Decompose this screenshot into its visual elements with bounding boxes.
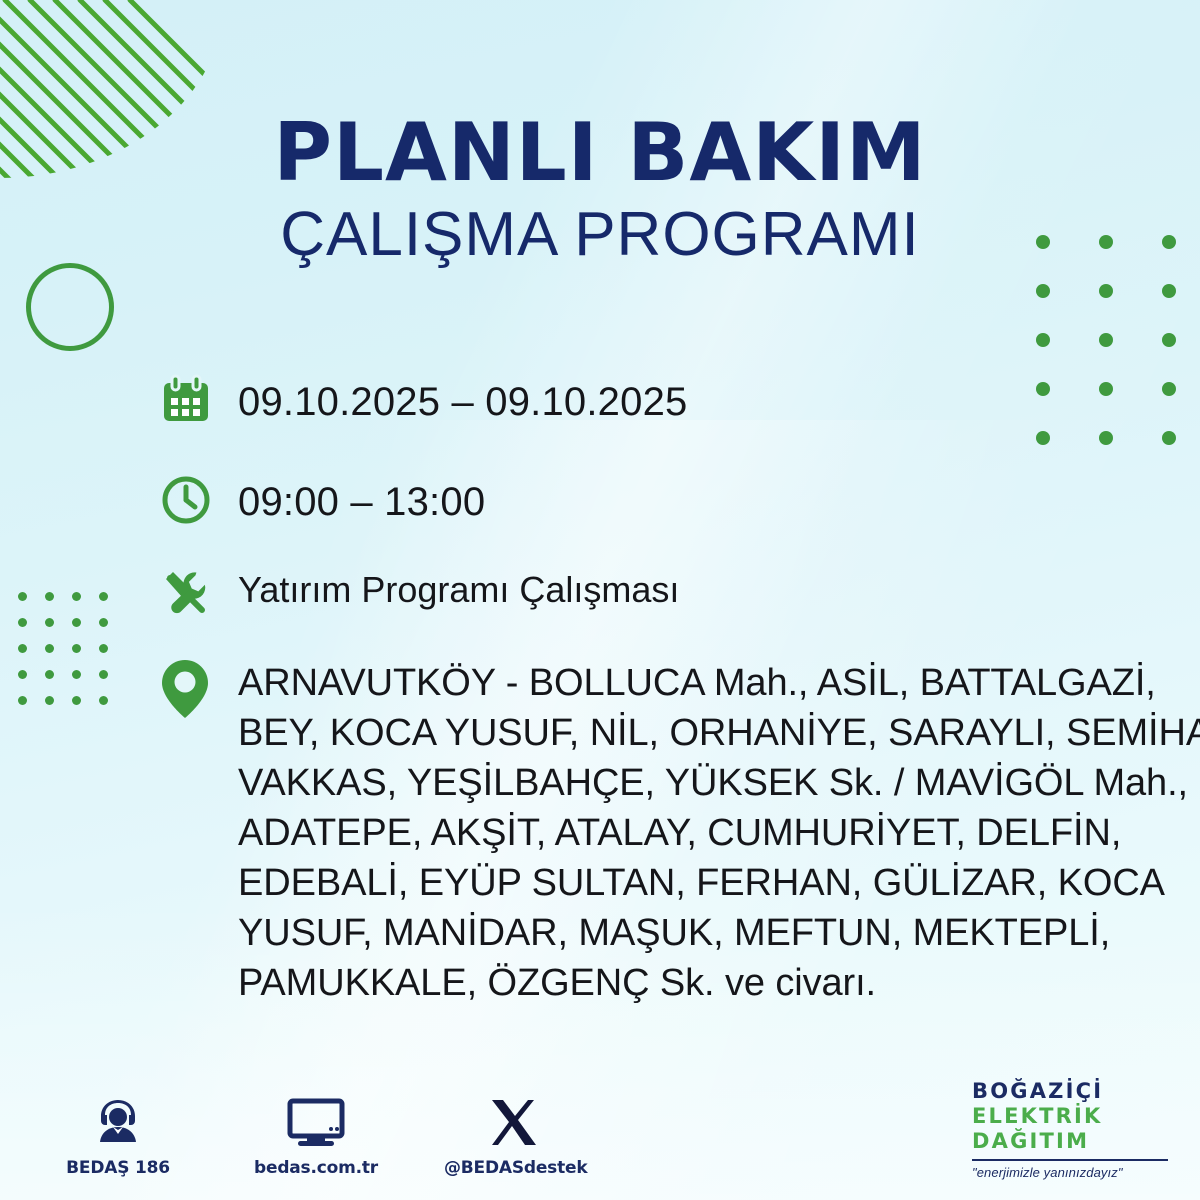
poster-header: PLANLI BAKIM ÇALIŞMA PROGRAMI xyxy=(0,112,1200,267)
contact-social-label: @BEDASdestek xyxy=(444,1158,584,1178)
time-range-value: 09:00 – 13:00 xyxy=(238,472,1160,526)
headset-support-icon xyxy=(48,1090,188,1148)
address-line: YUSUF, MANİDAR, MAŞUK, MEFTUN, MEKTEPLİ, xyxy=(238,908,1200,958)
dot-grid-left-decoration xyxy=(18,592,126,722)
address-line: BEY, KOCA YUSUF, NİL, ORHANİYE, SARAYLI,… xyxy=(238,708,1200,758)
x-twitter-icon xyxy=(444,1090,584,1148)
brand-logo: BOĞAZİÇİ ELEKTRİK DAĞITIM "enerjimizle y… xyxy=(972,1079,1172,1180)
date-range-value: 09.10.2025 – 09.10.2025 xyxy=(238,372,1160,426)
address-line: PAMUKKALE, ÖZGENÇ Sk. ve civarı. xyxy=(238,958,1200,1008)
brand-line-bogazici: BOĞAZİÇİ xyxy=(972,1079,1172,1104)
outage-details: 09.10.2025 – 09.10.2025 09:00 – 13:00 xyxy=(160,372,1160,1008)
page-subtitle: ÇALIŞMA PROGRAMI xyxy=(0,202,1200,267)
contact-website-label: bedas.com.tr xyxy=(246,1158,386,1178)
detail-row-work-type: Yatırım Programı Çalışması xyxy=(160,564,1160,656)
contact-social[interactable]: @BEDASdestek xyxy=(444,1090,584,1178)
calendar-icon xyxy=(160,372,238,426)
work-type-value: Yatırım Programı Çalışması xyxy=(238,564,1160,612)
address-line: EDEBALİ, EYÜP SULTAN, FERHAN, GÜLİZAR, K… xyxy=(238,858,1200,908)
contact-website[interactable]: bedas.com.tr xyxy=(246,1090,386,1178)
brand-line-elektrik: ELEKTRİK xyxy=(972,1104,1172,1129)
location-pin-icon xyxy=(160,656,238,720)
contact-phone-label: BEDAŞ 186 xyxy=(48,1158,188,1178)
poster-footer: BEDAŞ 186 bedas.com.tr xyxy=(0,1040,1200,1200)
detail-row-time: 09:00 – 13:00 xyxy=(160,472,1160,564)
address-line: VAKKAS, YEŞİLBAHÇE, YÜKSEK Sk. / MAVİGÖL… xyxy=(238,758,1200,808)
page-title: PLANLI BAKIM xyxy=(0,112,1200,194)
detail-row-address: ARNAVUTKÖY - BOLLUCA Mah., ASİL, BATTALG… xyxy=(160,656,1160,1008)
poster-canvas: PLANLI BAKIM ÇALIŞMA PROGRAMI 09.10.2025… xyxy=(0,0,1200,1200)
circle-outline-decoration xyxy=(26,263,114,351)
address-line: ARNAVUTKÖY - BOLLUCA Mah., ASİL, BATTALG… xyxy=(238,658,1200,708)
tools-icon xyxy=(160,564,238,620)
brand-tagline: "enerjimizle yanınızdayız" xyxy=(972,1165,1172,1180)
address-line: ADATEPE, AKŞİT, ATALAY, CUMHURİYET, DELF… xyxy=(238,808,1200,858)
address-value: ARNAVUTKÖY - BOLLUCA Mah., ASİL, BATTALG… xyxy=(238,656,1200,1008)
monitor-icon xyxy=(246,1090,386,1148)
contact-channels: BEDAŞ 186 bedas.com.tr xyxy=(48,1090,584,1178)
detail-row-date: 09.10.2025 – 09.10.2025 xyxy=(160,372,1160,472)
contact-phone[interactable]: BEDAŞ 186 xyxy=(48,1090,188,1178)
clock-icon xyxy=(160,472,238,526)
brand-divider xyxy=(972,1159,1168,1161)
brand-line-dagitim: DAĞITIM xyxy=(972,1129,1172,1154)
